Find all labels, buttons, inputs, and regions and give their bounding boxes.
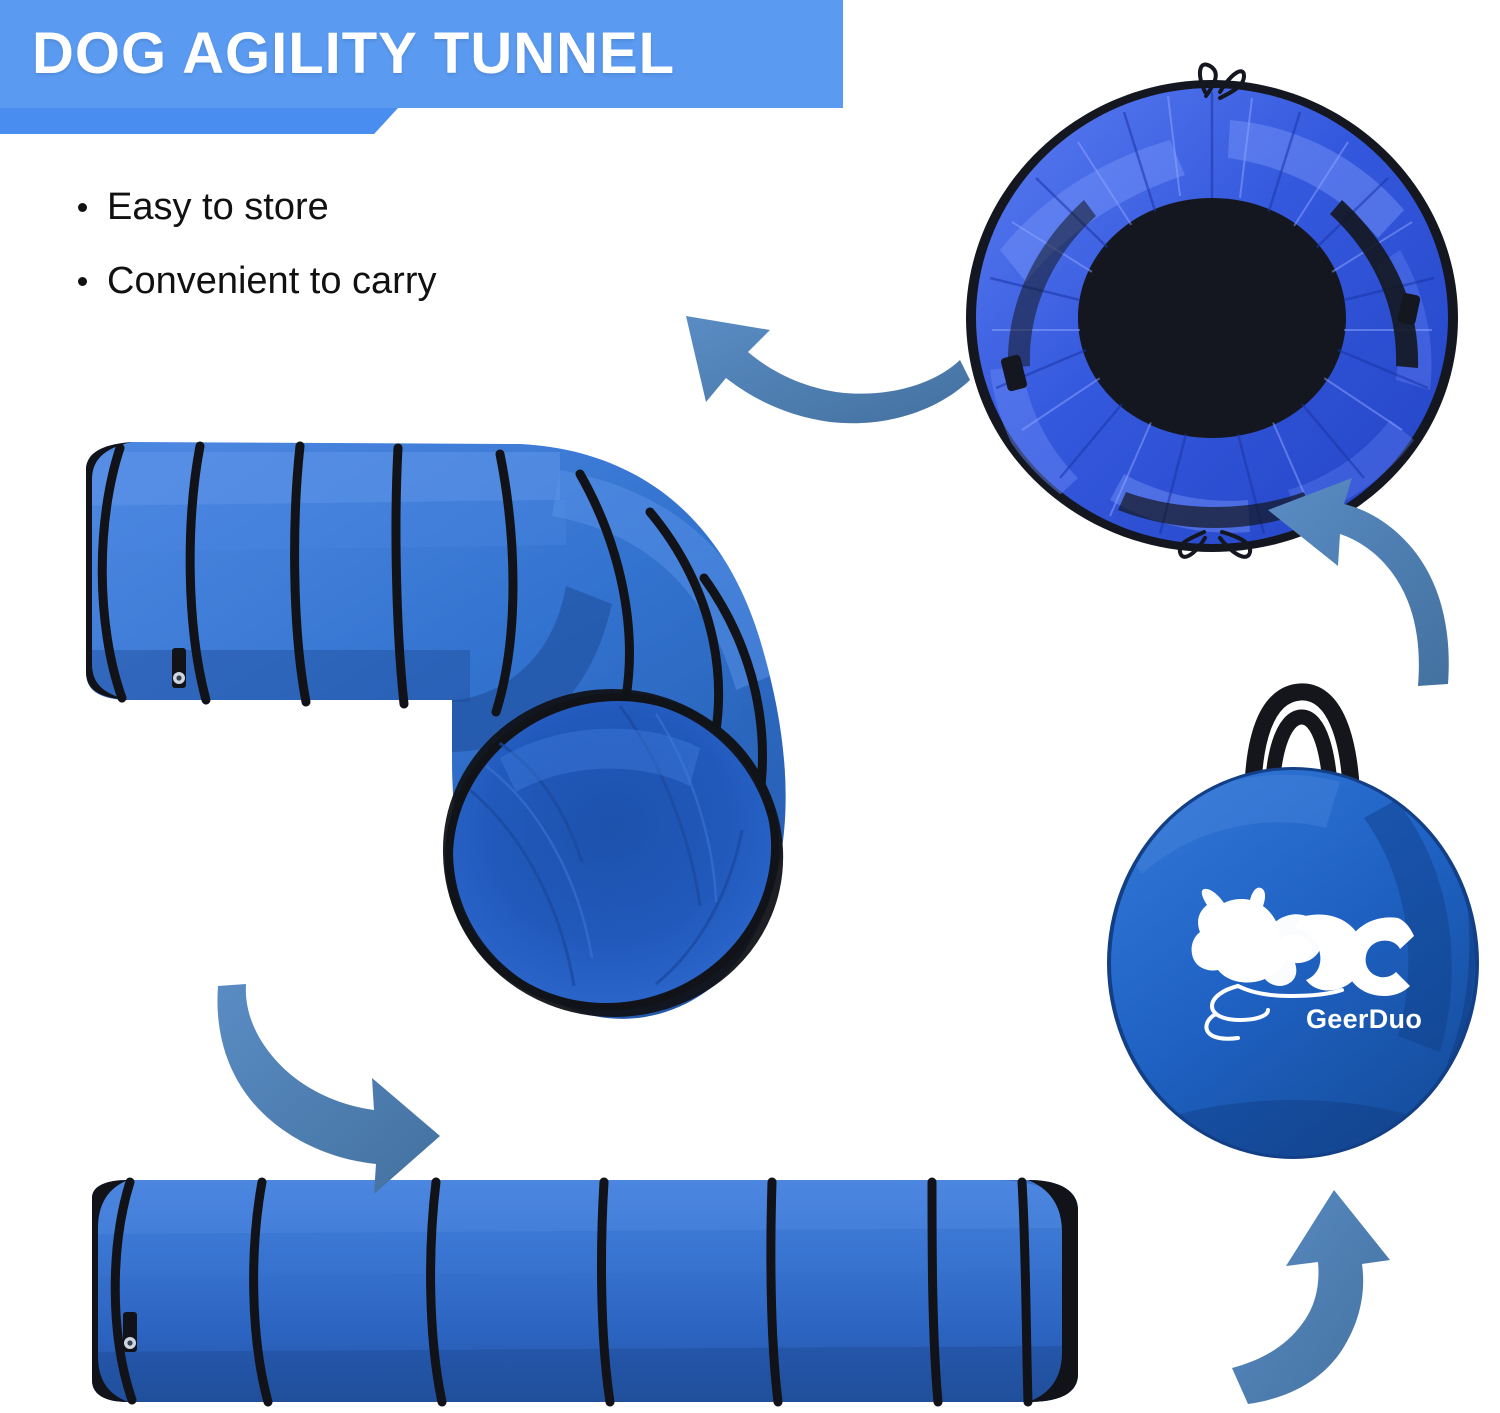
tunnel-mouth-rim — [448, 694, 778, 1012]
tunnel-end-rim-right-straight — [1028, 1180, 1078, 1402]
fabric-tie-bottom — [1180, 532, 1250, 557]
buckle-tab-left — [1000, 354, 1028, 392]
arrow-fold-tunnel — [686, 316, 970, 423]
feature-bullet-list: Easy to store Convenient to carry — [78, 188, 437, 336]
folded-tunnel-ring — [966, 64, 1458, 556]
header-banner-accent-strip — [0, 108, 398, 134]
straight-agility-tunnel — [92, 1180, 1080, 1404]
list-item: Convenient to carry — [78, 262, 437, 302]
tunnel-hoop-ribs-elbow — [496, 454, 762, 878]
dog-head-icon — [1260, 914, 1322, 986]
page-title: DOG AGILITY TUNNEL — [32, 25, 675, 83]
feature-label: Convenient to carry — [107, 262, 437, 302]
bullet-dot-icon — [78, 277, 87, 286]
buckle-tab-right — [1397, 292, 1421, 325]
tunnel-hoop-ribs — [102, 446, 404, 704]
curved-agility-tunnel — [86, 441, 821, 1054]
grommet-eyelet-tab-straight — [123, 1312, 137, 1352]
arrow-store-in-bag — [1232, 1190, 1390, 1404]
arrow-pack-to-ring — [1268, 478, 1449, 686]
bag-handle — [1253, 692, 1352, 820]
tunnel-end-rim-left-straight — [92, 1180, 128, 1402]
brand-logo: GeerDuo — [1192, 888, 1423, 1039]
tunnel-end-rim-left — [86, 442, 132, 700]
list-item: Easy to store — [78, 188, 437, 228]
logo-letter-d — [1296, 914, 1364, 990]
product-image-canvas: DOG AGILITY TUNNEL Easy to store Conveni… — [0, 0, 1500, 1413]
grommet-eyelet-tab — [172, 648, 186, 688]
feature-label: Easy to store — [107, 188, 329, 228]
cat-silhouette-icon — [1192, 888, 1312, 983]
round-carry-bag: GeerDuo — [1083, 692, 1500, 1280]
brand-wordmark: GeerDuo — [1306, 1004, 1422, 1034]
bag-handle-inner — [1272, 717, 1331, 818]
logo-letter-c — [1345, 917, 1414, 996]
fabric-tie-top — [1200, 64, 1244, 98]
bullet-dot-icon — [78, 203, 87, 212]
tunnel-open-mouth — [403, 650, 820, 1054]
tunnel-hoop-ribs-straight — [115, 1182, 1028, 1402]
header-banner: DOG AGILITY TUNNEL — [0, 0, 843, 108]
arrow-unroll — [217, 984, 440, 1194]
